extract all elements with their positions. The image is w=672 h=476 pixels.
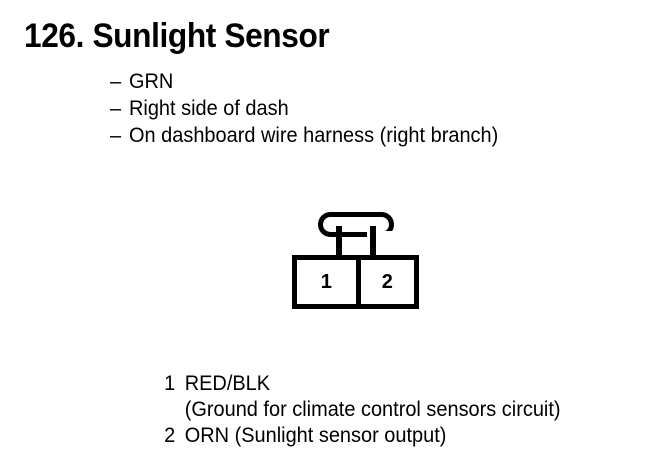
connector-diagram: 1 2 [292,212,422,312]
legend-row-description: (Ground for climate control sensors circ… [160,397,635,423]
legend-wire-color: ORN (Sunlight sensor output) [185,423,635,449]
connector-pin-2: 2 [356,260,415,304]
list-item-label: GRN [129,68,623,95]
legend-description: (Ground for climate control sensors circ… [185,397,635,423]
legend-row: 1 RED/BLK [160,371,635,397]
connector-body: 1 2 [292,255,419,309]
connector-tab-stem-left [336,226,342,258]
connector-locking-tab-icon [318,212,394,237]
connector-tab-stem-right [370,226,376,258]
list-item-label: Right side of dash [129,95,623,122]
dash-icon: – [110,95,129,122]
list-item: – GRN [110,68,623,95]
legend-row: 2 ORN (Sunlight sensor output) [160,423,635,449]
pin-legend: 1 RED/BLK (Ground for climate control se… [160,371,660,449]
legend-pin-number: 2 [160,423,185,449]
list-item-label: On dashboard wire harness (right branch) [129,122,623,149]
dash-icon: – [110,122,129,149]
legend-pin-number: 1 [160,371,185,397]
list-item: – Right side of dash [110,95,623,122]
dash-icon: – [110,68,129,95]
sensor-detail-list: – GRN – Right side of dash – On dashboar… [110,68,650,149]
connector-pin-1: 1 [297,260,356,304]
list-item: – On dashboard wire harness (right branc… [110,122,623,149]
legend-wire-color: RED/BLK [185,371,635,397]
page-title: 126. Sunlight Sensor [24,16,329,56]
